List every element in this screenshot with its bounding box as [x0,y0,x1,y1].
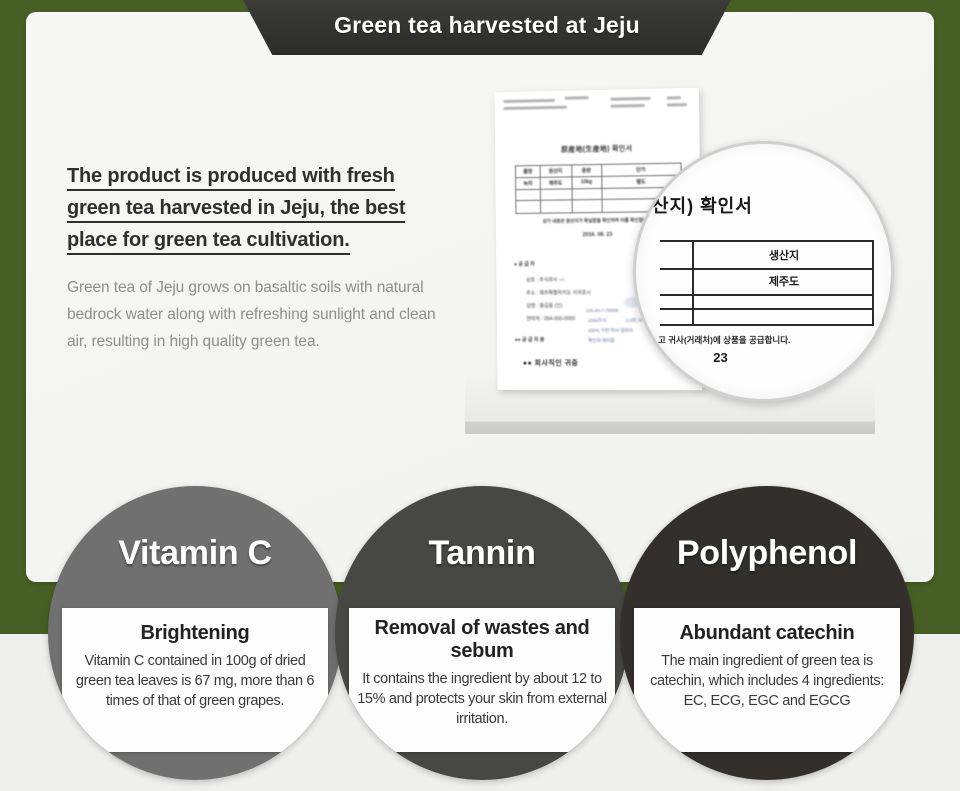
header-banner: Green tea harvested at Jeju [243,0,731,55]
magnified-table: 생산지 제주도 [660,240,874,326]
supplier-line-1: 주소 : 제주특별자치도 서귀포시 [526,289,591,296]
supplier-line-2: 성명 : 홍길동 (인) [526,302,562,309]
doc-td-2: 10kg [571,179,601,185]
benefit-subtitle-2: Abundant catechin [640,622,894,645]
certificate-scene: 原産地(生産地) 확인서 품명 원산지 중량 단가 녹차 제주도 10kg 별도… [455,88,885,448]
magnified-page-number-text: 23 [713,350,727,365]
copy-headline: The product is produced with fresh green… [67,160,449,256]
magnified-cell-header: 생산지 [694,247,874,263]
benefit-body-1: It contains the ingredient by about 12 t… [355,669,609,729]
benefit-circle-polyphenol[interactable]: Polyphenol Abundant catechin The main in… [620,486,914,780]
benefit-body-0: Vitamin C contained in 100g of dried gre… [68,651,322,711]
benefit-circle-tannin[interactable]: Tannin Removal of wastes and sebum It co… [335,486,629,780]
copy-block: The product is produced with fresh green… [67,160,449,355]
document-meta-row [503,96,690,116]
benefit-body-2: The main ingredient of green tea is cate… [640,651,894,711]
benefit-circle-vitamin-c[interactable]: Vitamin C Brightening Vitamin C containe… [48,486,342,780]
supplier-line-0: 상호 : 주식회사 ○○ [526,276,565,283]
doc-th-2: 중량 [571,167,601,174]
benefit-card-1: Removal of wastes and sebum It contains … [349,608,615,752]
magnified-cell-value: 제주도 [694,273,874,289]
handwriting-0: 120.40-7-79328 [586,308,618,313]
benefit-title-0: Vitamin C [48,534,342,573]
benefit-title-1: Tannin [335,534,629,573]
copy-body: Green tea of Jeju grows on basaltic soil… [67,274,449,355]
benefit-circles: Vitamin C Brightening Vitamin C containe… [0,482,960,791]
doc-th-3: 단가 [601,166,680,174]
supplier-line-3: 연락처 : 064-000-0000 [526,315,575,322]
doc-th-1: 원산지 [540,167,572,174]
magnifier-lens: 산지) 확인서 생산지 제주도 고 귀사(거래처)에 상품을 공급합니다. 23 [633,141,894,402]
magnified-title: 산지) 확인서 [652,192,753,218]
benefit-title-2: Polyphenol [620,534,914,573]
magnified-page-number: 23 [636,350,891,365]
document-signature: ●● 회사직인 귀중 [523,358,579,368]
recipient-label: ●● 공 급 자 용 [515,336,545,343]
doc-th-0: 품명 [516,168,540,175]
handwriting-3: 100% 무한 학사 업마이 [588,328,633,334]
banner-title: Green tea harvested at Jeju [334,12,640,39]
doc-td-0: 녹차 [516,180,540,187]
handwriting-4: 확인자 에이플 [588,338,615,344]
infographic-stage: Green tea harvested at Jeju The product … [0,0,960,791]
doc-td-1: 제주도 [540,179,572,186]
benefit-card-2: Abundant catechin The main ingredient of… [634,608,900,752]
handwriting-1: 1004주식 [588,318,607,324]
copy-headline-text: The product is produced with fresh green… [67,165,405,255]
magnified-footer: 고 귀사(거래처)에 상품을 공급합니다. [658,334,883,346]
document-title: 原産地(生産地) 확인서 [495,142,700,156]
benefit-card-0: Brightening Vitamin C contained in 100g … [62,608,328,752]
benefit-subtitle-0: Brightening [68,622,322,645]
supplier-label: ● 공 급 자 [514,261,535,268]
benefit-subtitle-1: Removal of wastes and sebum [355,617,609,663]
handwriting-2: 2.5회 사 [626,318,642,324]
